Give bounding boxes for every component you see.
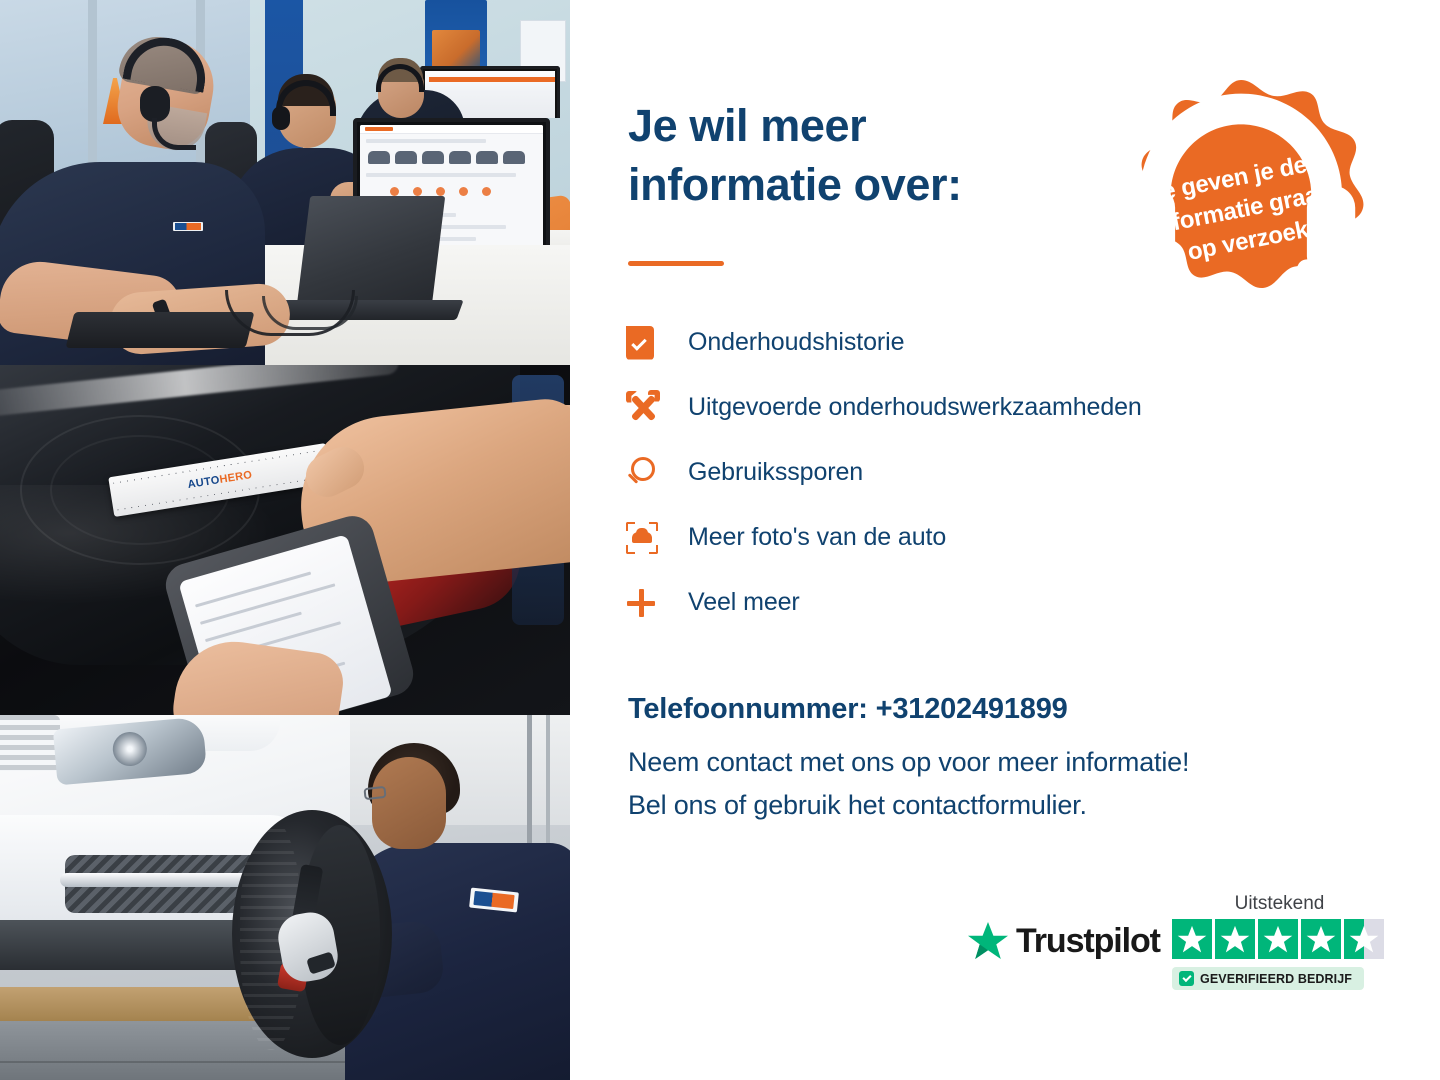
trustpilot-rating-block: Uitstekend GEVERIFIEERD BEDRIJF bbox=[1172, 893, 1387, 991]
feature-list: Onderhoudshistorie Uitgevoerde onderhoud… bbox=[626, 310, 1386, 635]
contact-text-line1: Neem contact met ons op voor meer inform… bbox=[628, 747, 1189, 778]
photo3-car-grille bbox=[0, 715, 60, 771]
star-half bbox=[1344, 919, 1384, 959]
photo1-tablet-on-desk bbox=[66, 312, 255, 348]
feature-item-meer-fotos: Meer foto's van de auto bbox=[626, 505, 1386, 570]
feature-label: Meer foto's van de auto bbox=[688, 523, 946, 552]
trustpilot-wordmark: Trustpilot bbox=[1016, 922, 1160, 961]
magnifier-icon bbox=[626, 457, 688, 489]
star-filled bbox=[1215, 919, 1255, 959]
star-filled bbox=[1172, 919, 1212, 959]
verified-check-icon bbox=[1179, 971, 1194, 986]
page-title: Je wil meerinformatie over: bbox=[628, 96, 1148, 215]
photo3-mechanic-glasses bbox=[363, 786, 386, 800]
photo1-agent-1-headset-cup bbox=[140, 86, 170, 122]
title-divider bbox=[628, 261, 724, 266]
photo-car-inspection-with-autohero-ruler: AUTOHERO bbox=[0, 365, 570, 715]
trustpilot-widget[interactable]: Trustpilot Uitstekend GEVERIFIEERD BEDRI… bbox=[967, 893, 1387, 1005]
star-filled bbox=[1301, 919, 1341, 959]
trustpilot-logo: Trustpilot bbox=[967, 921, 1160, 961]
trustpilot-rating-label: Uitstekend bbox=[1172, 893, 1387, 915]
tools-wrench-screwdriver-icon bbox=[626, 391, 688, 425]
verified-business-badge: GEVERIFIEERD BEDRIJF bbox=[1172, 967, 1364, 990]
photo1-screen-row bbox=[366, 173, 516, 177]
photo1-screen-toolbar bbox=[360, 125, 543, 134]
phone-number[interactable]: Telefoonnummer: +31202491899 bbox=[628, 693, 1068, 726]
star-filled bbox=[1258, 919, 1298, 959]
feature-label: Veel meer bbox=[688, 588, 800, 617]
photo1-wall-poster bbox=[425, 0, 487, 76]
ruler-brand-part1: AUTO bbox=[187, 474, 221, 491]
verified-label: GEVERIFIEERD BEDRIJF bbox=[1200, 972, 1352, 986]
request-info-badge: We geven je deze informatie graag op ver… bbox=[1112, 76, 1370, 322]
feature-item-veel-meer: Veel meer bbox=[626, 570, 1386, 635]
photo1-agent-2-headset-cup bbox=[272, 106, 290, 130]
photo2-ruler-brand: AUTOHERO bbox=[187, 469, 253, 491]
feature-item-gebruikssporen: Gebruikssporen bbox=[626, 440, 1386, 505]
trustpilot-stars bbox=[1172, 919, 1387, 959]
ruler-brand-part2: HERO bbox=[219, 469, 253, 486]
photo1-screen-car-thumbs bbox=[368, 151, 525, 164]
photo-column: AUTOHERO bbox=[0, 0, 570, 1080]
page-title-line1: Je wil meer bbox=[628, 100, 866, 151]
promo-banner: AUTOHERO bbox=[0, 0, 1440, 1080]
car-scan-icon bbox=[626, 522, 688, 554]
photo1-agent-1-polo-logo bbox=[173, 222, 203, 231]
content-panel: Je wil meerinformatie over: We geven je … bbox=[570, 0, 1440, 1080]
feature-label: Gebruikssporen bbox=[688, 458, 863, 487]
photo-call-center-agents-with-headsets bbox=[0, 0, 570, 365]
feature-label: Uitgevoerde onderhoudswerkzaamheden bbox=[688, 393, 1142, 422]
document-check-icon bbox=[626, 326, 688, 360]
photo3-mechanic-head bbox=[372, 757, 446, 849]
photo-mechanic-inspecting-tire-on-lift bbox=[0, 715, 570, 1080]
trustpilot-star-icon bbox=[967, 921, 1009, 961]
page-title-line2: informatie over: bbox=[628, 159, 962, 210]
feature-item-onderhoudswerkzaamheden: Uitgevoerde onderhoudswerkzaamheden bbox=[626, 375, 1386, 440]
plus-icon bbox=[626, 588, 688, 618]
feature-item-onderhoudshistorie: Onderhoudshistorie bbox=[626, 310, 1386, 375]
feature-label: Onderhoudshistorie bbox=[688, 328, 904, 357]
photo1-screen-icon-row bbox=[390, 187, 491, 196]
contact-text-line2: Bel ons of gebruik het contactformulier. bbox=[628, 790, 1087, 821]
photo1-screen-row bbox=[366, 139, 486, 143]
